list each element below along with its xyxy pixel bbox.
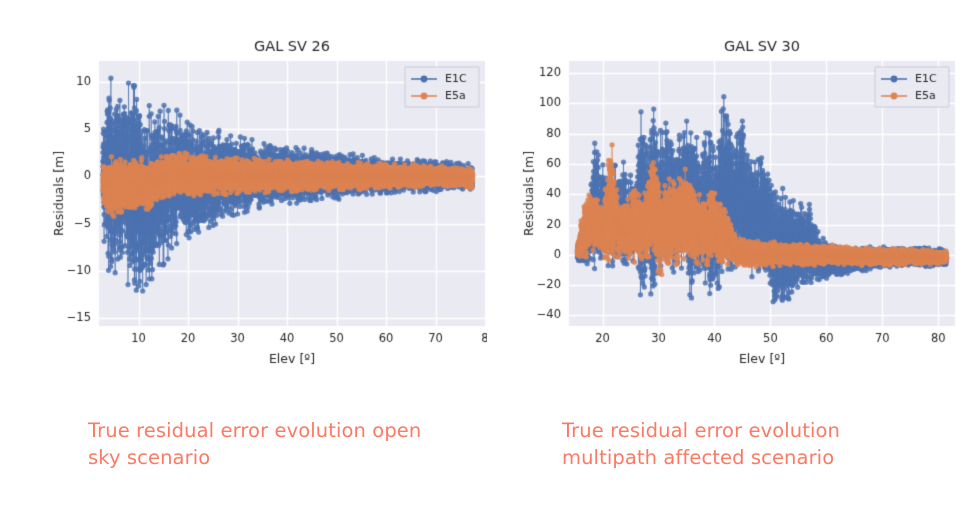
figure-gal-sv-30 <box>517 33 957 388</box>
scatter-plot-gal-sv-26 <box>47 33 487 388</box>
caption-multipath: True residual error evolution multipath … <box>562 417 962 471</box>
caption-open-sky: True residual error evolution open sky s… <box>88 417 468 471</box>
figure-gal-sv-26 <box>47 33 487 388</box>
slide-canvas: True residual error evolution open sky s… <box>0 0 977 511</box>
scatter-plot-gal-sv-30 <box>517 33 957 388</box>
